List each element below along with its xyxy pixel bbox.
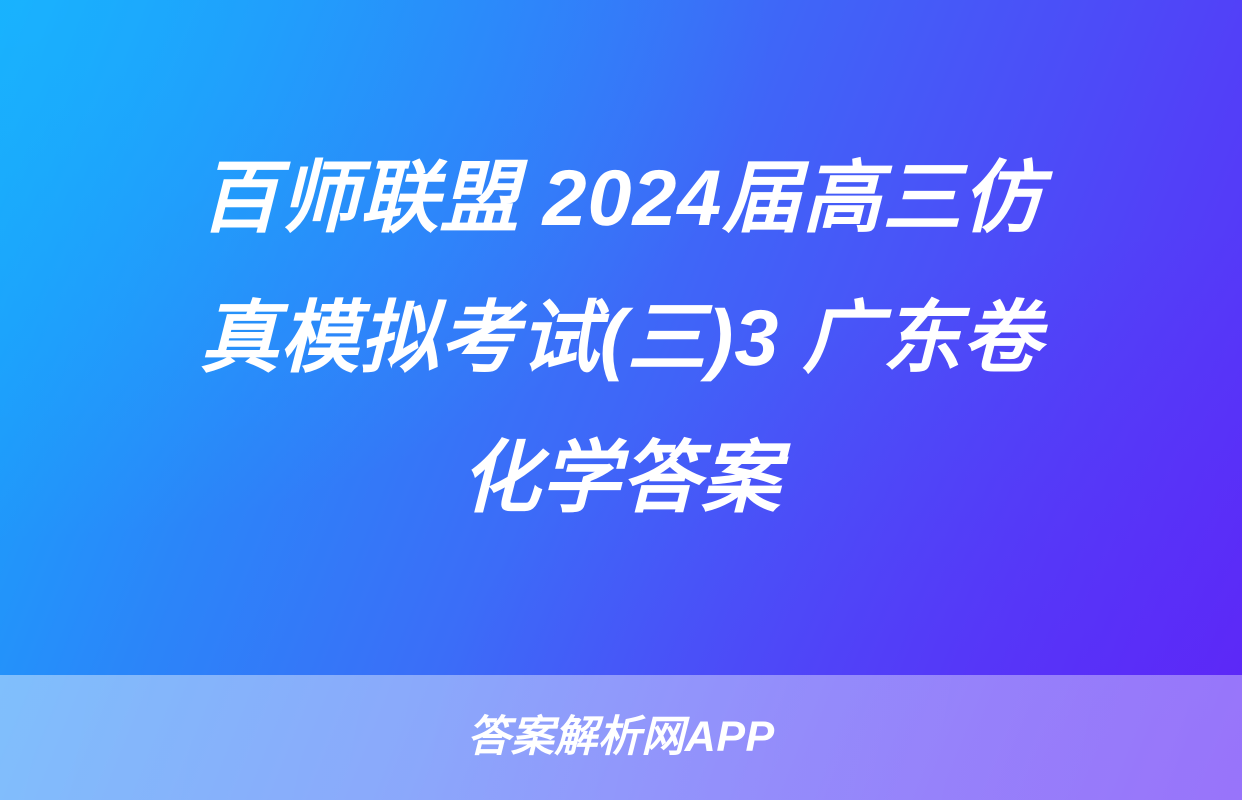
app-brand-label: 答案解析网APP xyxy=(467,716,774,759)
promo-card: 百师联盟 2024届高三仿 真模拟考试(三)3 广东卷 化学答案 答案解析网AP… xyxy=(0,0,1242,800)
footer-brand-bar: 答案解析网APP xyxy=(0,675,1242,800)
page-title: 百师联盟 2024届高三仿 真模拟考试(三)3 广东卷 化学答案 xyxy=(66,128,1176,548)
hero-section: 百师联盟 2024届高三仿 真模拟考试(三)3 广东卷 化学答案 xyxy=(0,0,1242,675)
